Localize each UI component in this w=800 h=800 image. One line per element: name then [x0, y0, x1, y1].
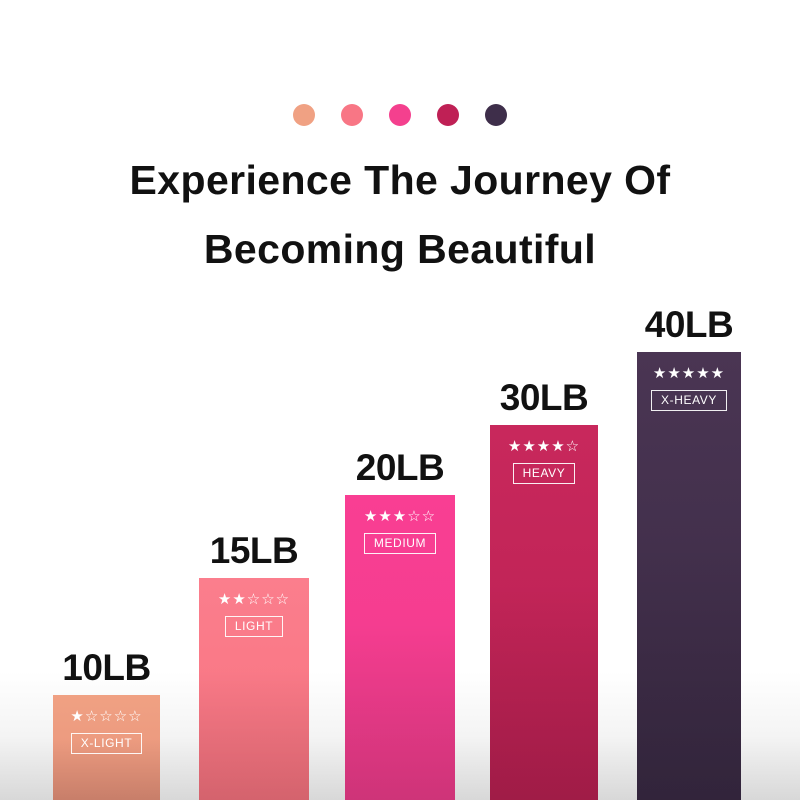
- bar-weight-label: 30LB: [500, 379, 588, 416]
- decorative-dot-4: [437, 104, 459, 126]
- star-rating: ★★★★★: [653, 366, 725, 381]
- bar-weight-label: 15LB: [210, 532, 298, 569]
- bar-weight-label: 20LB: [356, 449, 444, 486]
- promo-graphic: Experience The Journey Of Becoming Beaut…: [0, 0, 800, 800]
- bar-weight-label: 40LB: [645, 306, 733, 343]
- bar-column-20lb: 20LB★★★☆☆MEDIUM: [345, 449, 455, 800]
- level-badge: X-LIGHT: [71, 733, 143, 754]
- page-title: Experience The Journey Of Becoming Beaut…: [0, 146, 800, 284]
- level-badge: X-HEAVY: [651, 390, 727, 411]
- bar-20lb: ★★★☆☆MEDIUM: [345, 495, 455, 800]
- bar-column-40lb: 40LB★★★★★X-HEAVY: [637, 306, 741, 800]
- bar-column-30lb: 30LB★★★★☆HEAVY: [490, 379, 598, 800]
- bar-column-15lb: 15LB★★☆☆☆LIGHT: [199, 532, 309, 800]
- page-title-line-1: Experience The Journey Of: [0, 146, 800, 215]
- bar-weight-label: 10LB: [62, 649, 150, 686]
- decorative-dot-row: [0, 104, 800, 126]
- level-badge: HEAVY: [513, 463, 576, 484]
- star-rating: ★★☆☆☆: [218, 592, 290, 607]
- bar-30lb: ★★★★☆HEAVY: [490, 425, 598, 800]
- bar-15lb: ★★☆☆☆LIGHT: [199, 578, 309, 800]
- level-badge: MEDIUM: [364, 533, 436, 554]
- bar-40lb: ★★★★★X-HEAVY: [637, 352, 741, 800]
- star-rating: ★★★☆☆: [364, 509, 436, 524]
- decorative-dot-3: [389, 104, 411, 126]
- page-title-line-2: Becoming Beautiful: [0, 215, 800, 284]
- decorative-dot-1: [293, 104, 315, 126]
- star-rating: ★☆☆☆☆: [70, 709, 142, 724]
- star-rating: ★★★★☆: [508, 439, 580, 454]
- resistance-band-bar-chart: 10LB★☆☆☆☆X-LIGHT15LB★★☆☆☆LIGHT20LB★★★☆☆M…: [0, 280, 800, 800]
- level-badge: LIGHT: [225, 616, 283, 637]
- bar-column-10lb: 10LB★☆☆☆☆X-LIGHT: [53, 649, 160, 800]
- bar-10lb: ★☆☆☆☆X-LIGHT: [53, 695, 160, 800]
- decorative-dot-2: [341, 104, 363, 126]
- decorative-dot-5: [485, 104, 507, 126]
